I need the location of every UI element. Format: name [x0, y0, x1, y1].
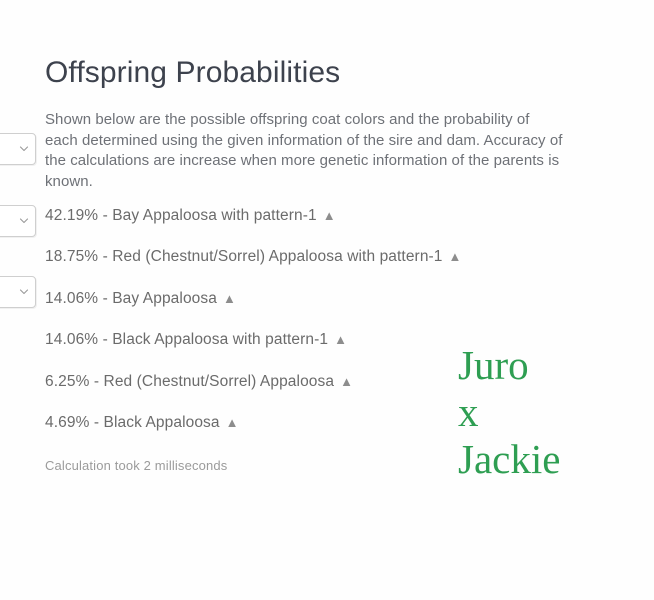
probability-row-text: 18.75% - Red (Chestnut/Sorrel) Appaloosa…	[45, 247, 443, 267]
chevron-down-icon	[19, 216, 29, 226]
pairing-dam-name: Jackie	[458, 436, 560, 483]
triangle-up-icon[interactable]: ▲	[334, 330, 347, 350]
triangle-up-icon[interactable]: ▲	[223, 289, 236, 309]
probability-row[interactable]: 14.06% - Bay Appaloosa ▲	[45, 289, 565, 330]
description-text: Shown below are the possible offspring c…	[45, 110, 565, 192]
triangle-up-icon[interactable]: ▲	[449, 247, 462, 267]
chevron-down-icon	[19, 287, 29, 297]
probability-row-text: 14.06% - Black Appaloosa with pattern-1	[45, 330, 328, 350]
probability-row-text: 42.19% - Bay Appaloosa with pattern-1	[45, 206, 317, 226]
probability-row-text: 14.06% - Bay Appaloosa	[45, 289, 217, 309]
dropdown-3[interactable]	[0, 276, 36, 308]
chevron-down-icon	[19, 144, 29, 154]
page-title: Offspring Probabilities	[45, 54, 340, 92]
pairing-sire-name: Juro	[458, 342, 560, 389]
triangle-up-icon[interactable]: ▲	[226, 413, 239, 433]
probability-row[interactable]: 42.19% - Bay Appaloosa with pattern-1 ▲	[45, 206, 565, 247]
triangle-up-icon[interactable]: ▲	[340, 372, 353, 392]
probability-row-text: 6.25% - Red (Chestnut/Sorrel) Appaloosa	[45, 372, 334, 392]
probability-row[interactable]: 18.75% - Red (Chestnut/Sorrel) Appaloosa…	[45, 247, 565, 288]
probability-row-text: 4.69% - Black Appaloosa	[45, 413, 220, 433]
dropdown-1[interactable]	[0, 133, 36, 165]
calculation-time-note: Calculation took 2 milliseconds	[45, 458, 227, 473]
page-root: Offspring Probabilities Shown below are …	[0, 0, 654, 600]
pairing-operator: x	[458, 389, 560, 436]
triangle-up-icon[interactable]: ▲	[323, 206, 336, 226]
dropdown-2[interactable]	[0, 205, 36, 237]
pairing-label: Juro x Jackie	[458, 342, 560, 483]
